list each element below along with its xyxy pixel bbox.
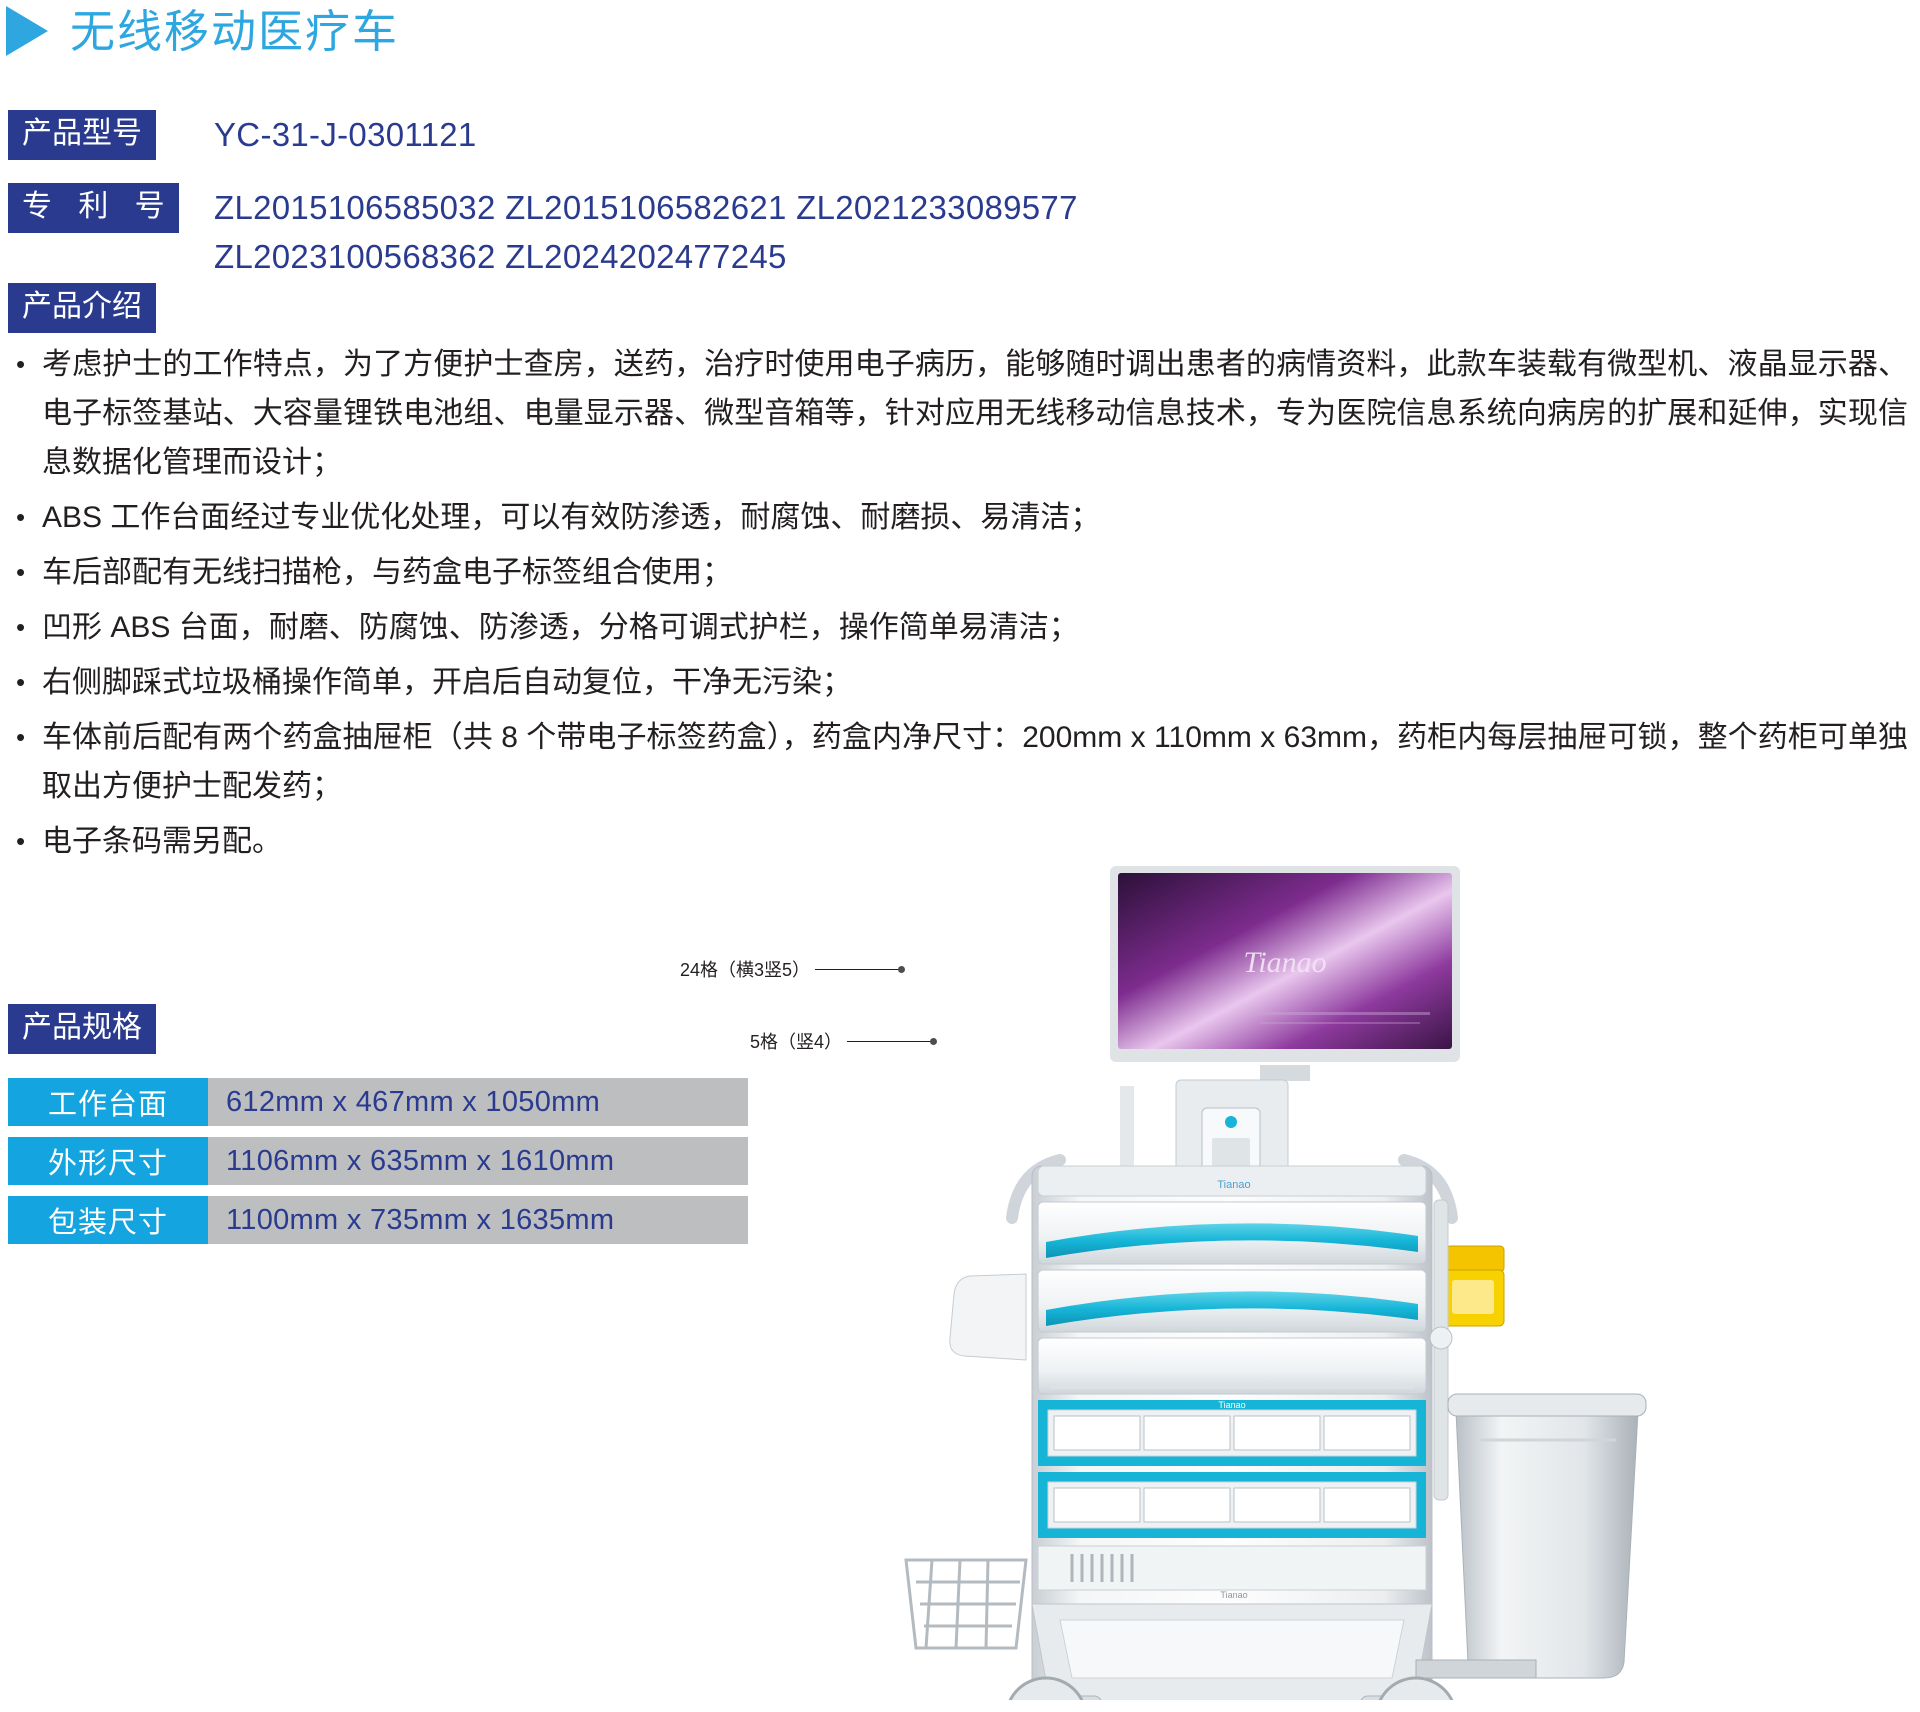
list-item: ABS 工作台面经过专业优化处理，可以有效防渗透，耐腐蚀、耐磨损、易清洁； [8, 493, 1908, 542]
list-item: 车体前后配有两个药盒抽屉柜（共 8 个带电子标签药盒），药盒内净尺寸：200mm… [8, 713, 1908, 811]
waste-bin [1448, 1394, 1646, 1678]
foot-pedal [1416, 1660, 1536, 1678]
side-tray-left [950, 1274, 1026, 1360]
patent-number-row: 专 利 号 ZL2015106585032 ZL2015106582621 ZL… [8, 183, 1078, 281]
list-item: 凹形 ABS 台面，耐磨、防腐蚀、防渗透，分格可调式护栏，操作简单易清洁； [8, 603, 1908, 652]
table-row: 工作台面 612mm x 467mm x 1050mm [8, 1078, 748, 1126]
svg-text:Tianao: Tianao [1220, 1590, 1247, 1600]
drawer-row [1038, 1270, 1426, 1332]
section-header-intro: 产品介绍 [8, 283, 156, 333]
intro-bullet-list: 考虑护士的工作特点，为了方便护士查房，送药，治疗时使用电子病历，能够随时调出患者… [8, 340, 1908, 872]
spec-row-label: 外形尺寸 [8, 1137, 208, 1185]
section-header-spec-wrap: 产品规格 [8, 1004, 156, 1054]
patent-number-label-wrap: 专 利 号 [8, 183, 208, 233]
spec-row-label: 包装尺寸 [8, 1196, 208, 1244]
spec-row-value: 1100mm x 735mm x 1635mm [208, 1196, 748, 1244]
svg-text:Tianao: Tianao [1218, 1400, 1245, 1410]
callout-24-label: 24格（横3竖5） [680, 956, 810, 982]
drawer-row [1038, 1202, 1426, 1264]
list-item: 考虑护士的工作特点，为了方便护士查房，送药，治疗时使用电子病历，能够随时调出患者… [8, 340, 1908, 487]
product-model-value: YC-31-J-0301121 [208, 110, 477, 159]
table-row: 包装尺寸 1100mm x 735mm x 1635mm [8, 1196, 748, 1244]
page-title-row: 无线移动医疗车 [0, 6, 399, 56]
medicine-box-bay: Tianao [1038, 1400, 1426, 1466]
monitor-group: Tianao [1110, 866, 1460, 1081]
patent-number-value: ZL2015106585032 ZL2015106582621 ZL202123… [208, 183, 1078, 281]
medicine-box-bay [1038, 1472, 1426, 1538]
spec-row-value: 1106mm x 635mm x 1610mm [208, 1137, 748, 1185]
wire-basket [906, 1560, 1026, 1648]
section-header-intro-wrap: 产品介绍 [8, 283, 156, 333]
spec-row-value: 612mm x 467mm x 1050mm [208, 1078, 748, 1126]
list-item: 电子条码需另配。 [8, 817, 1908, 866]
product-model-label: 产品型号 [8, 110, 156, 160]
triangle-right-icon [6, 6, 48, 56]
drawer-row [1038, 1338, 1426, 1394]
sharps-container [1442, 1246, 1504, 1326]
spec-table: 工作台面 612mm x 467mm x 1050mm 外形尺寸 1106mm … [8, 1078, 748, 1255]
list-item: 右侧脚踩式垃圾桶操作简单，开启后自动复位，干净无污染； [8, 658, 1908, 707]
page-title: 无线移动医疗车 [70, 9, 399, 54]
product-photo-area: 24格（横3竖5） 5格（竖4） [820, 860, 1910, 1700]
medical-cart-illustration: Tianao Tianao [820, 860, 1910, 1700]
product-model-row: 产品型号 YC-31-J-0301121 [8, 110, 477, 160]
list-item: 车后部配有无线扫描枪，与药盒电子标签组合使用； [8, 548, 1908, 597]
patent-number-label: 专 利 号 [8, 183, 179, 233]
section-header-spec: 产品规格 [8, 1004, 156, 1054]
product-model-label-wrap: 产品型号 [8, 110, 208, 160]
table-row: 外形尺寸 1106mm x 635mm x 1610mm [8, 1137, 748, 1185]
svg-text:Tianao: Tianao [1243, 946, 1326, 979]
spec-row-label: 工作台面 [8, 1078, 208, 1126]
svg-text:Tianao: Tianao [1217, 1179, 1250, 1191]
